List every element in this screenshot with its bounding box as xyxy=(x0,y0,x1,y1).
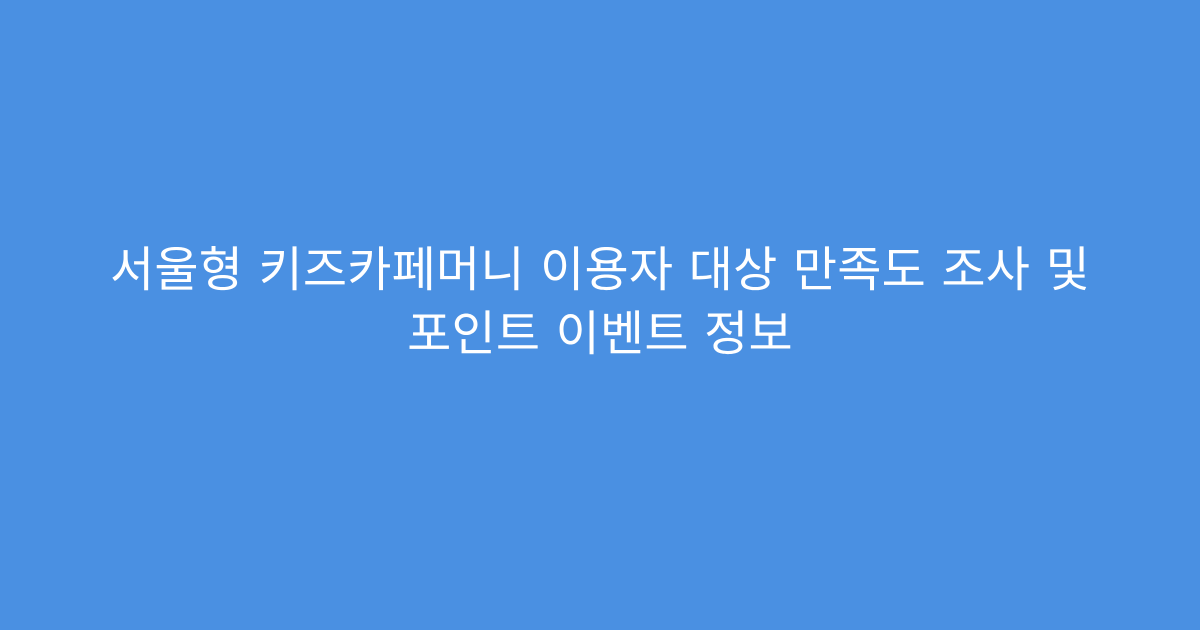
title-block: 서울형 키즈카페머니 이용자 대상 만족도 조사 및 포인트 이벤트 정보 xyxy=(40,238,1160,366)
og-share-card: 서울형 키즈카페머니 이용자 대상 만족도 조사 및 포인트 이벤트 정보 xyxy=(0,0,1200,630)
page-title: 서울형 키즈카페머니 이용자 대상 만족도 조사 및 포인트 이벤트 정보 xyxy=(80,238,1120,366)
